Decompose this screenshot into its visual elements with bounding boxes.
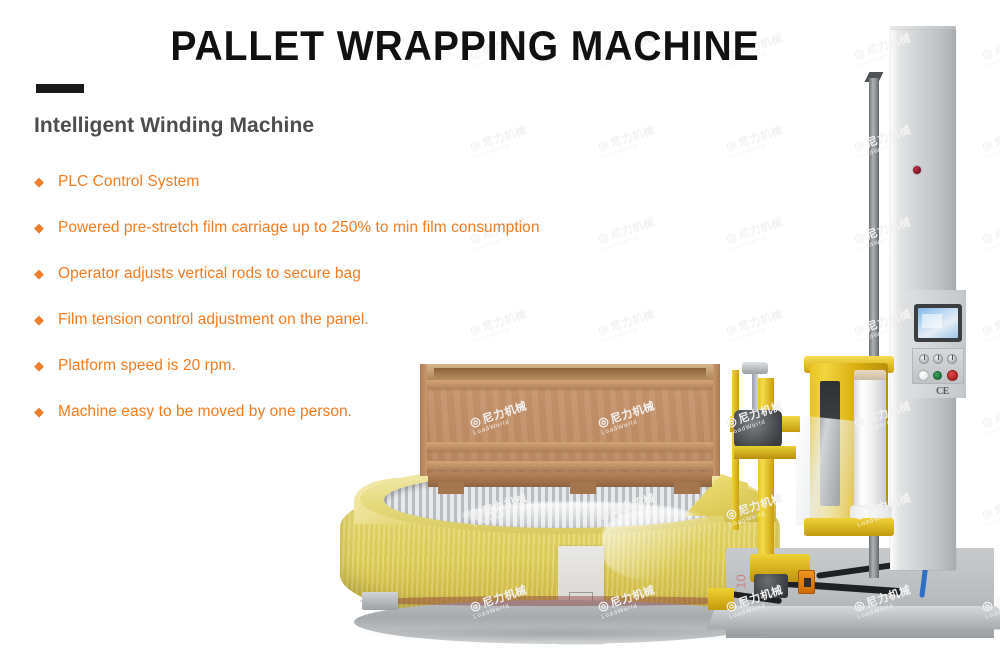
pallet-foot (674, 482, 700, 494)
red-button[interactable] (947, 370, 958, 381)
hmi-touchscreen[interactable] (914, 304, 962, 342)
list-item: ◆ PLC Control System (34, 172, 674, 218)
page-title: PALLET WRAPPING MACHINE (33, 22, 898, 70)
pallet-foot (438, 482, 464, 494)
tension-knob[interactable] (919, 354, 929, 364)
clamp-top-fitting (742, 362, 768, 374)
crate-right-edge (713, 364, 720, 476)
feature-label: Film tension control adjustment on the p… (58, 310, 369, 330)
feature-label: PLC Control System (58, 172, 199, 192)
base-stencil-mark: 10 (734, 574, 749, 588)
speed-knob[interactable] (933, 354, 943, 364)
stretch-film-roll (854, 370, 886, 518)
green-button[interactable] (933, 371, 942, 380)
feature-label: Machine easy to be moved by one person. (58, 402, 352, 422)
list-item: ◆ Operator adjusts vertical rods to secu… (34, 264, 674, 310)
diamond-bullet-icon: ◆ (34, 310, 44, 330)
film-clamp-head (734, 410, 782, 448)
list-item: ◆ Film tension control adjustment on the… (34, 310, 674, 356)
carriage-lift-column (758, 378, 774, 578)
pallet-foot (570, 482, 596, 494)
diamond-bullet-icon: ◆ (34, 172, 44, 192)
diamond-bullet-icon: ◆ (34, 218, 44, 238)
junction-box (798, 570, 815, 594)
feature-label: Powered pre-stretch film carriage up to … (58, 218, 540, 238)
list-item: ◆ Platform speed is 20 rpm. (34, 356, 674, 402)
diamond-bullet-icon: ◆ (34, 264, 44, 284)
turntable-drive-box (362, 592, 398, 610)
carriage-drive-motor (754, 574, 788, 598)
film-sheen-secondary (602, 510, 722, 580)
wrap-count-knob[interactable] (947, 354, 957, 364)
machine-foot (708, 588, 734, 610)
carriage-lower-arm (734, 446, 796, 459)
feature-list: ◆ PLC Control System ◆ Powered pre-stret… (34, 172, 674, 448)
list-item: ◆ Powered pre-stretch film carriage up t… (34, 218, 674, 264)
white-button[interactable] (918, 370, 929, 381)
page-subtitle: Intelligent Winding Machine (34, 114, 314, 138)
diamond-bullet-icon: ◆ (34, 402, 44, 422)
ce-mark: CE (936, 386, 949, 397)
diamond-bullet-icon: ◆ (34, 356, 44, 376)
list-item: ◆ Machine easy to be moved by one person… (34, 402, 674, 448)
crate-rail (422, 461, 718, 470)
hmi-screen-surface (918, 308, 958, 338)
stretch-film-web (796, 415, 856, 531)
carriage-bottom-cover (804, 518, 894, 536)
feature-label: Operator adjusts vertical rods to secure… (58, 264, 361, 284)
product-banner-page: 10 CE (0, 0, 1000, 667)
floor-shadow (350, 626, 770, 642)
accent-bar (36, 84, 84, 93)
red-indicator-lamp (913, 166, 921, 174)
feature-label: Platform speed is 20 rpm. (58, 356, 236, 376)
